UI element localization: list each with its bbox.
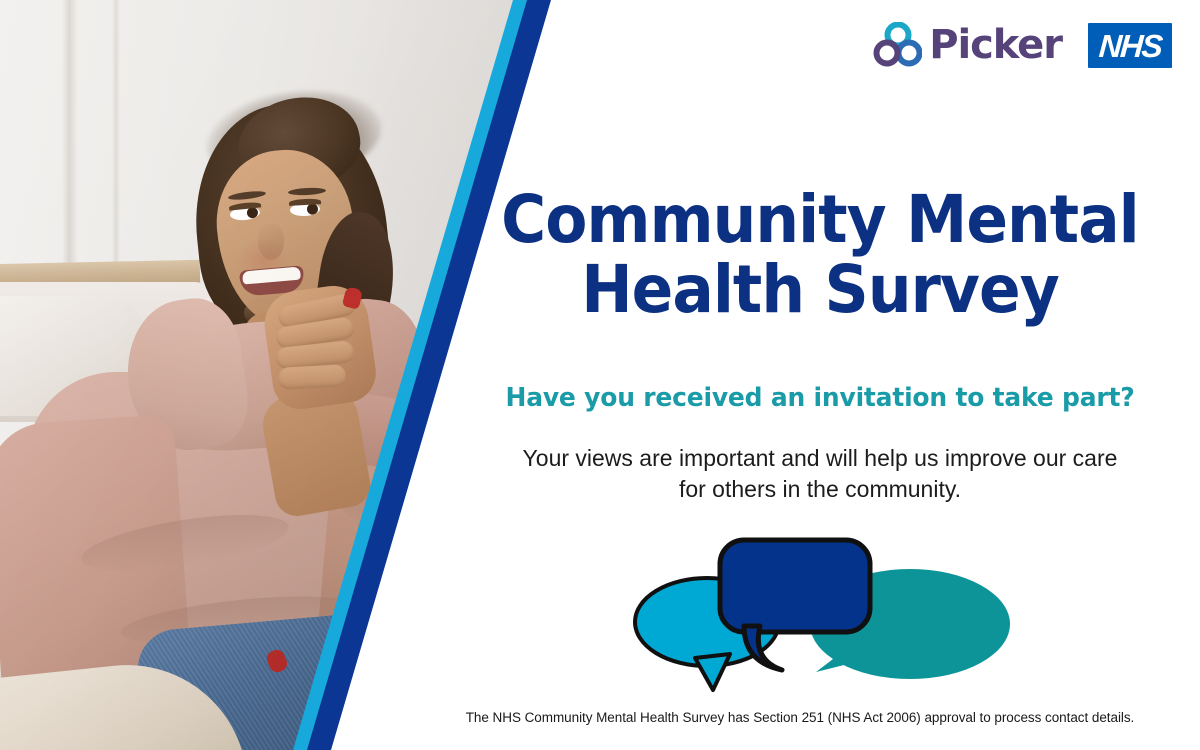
footer-disclaimer: The NHS Community Mental Health Survey h… — [405, 710, 1195, 725]
page-subtitle: Have you received an invitation to take … — [484, 383, 1156, 413]
hero-photo — [0, 0, 545, 750]
body-line-2: for others in the community. — [679, 476, 961, 502]
body-paragraph: Your views are important and will help u… — [480, 443, 1160, 505]
page-title: Community Mental Health Survey — [495, 185, 1146, 325]
page-title-line-2: Health Survey — [581, 251, 1059, 328]
speech-bubbles-illustration — [620, 522, 1020, 697]
photo-shading-overlay — [0, 0, 545, 750]
page-title-line-1: Community Mental — [501, 181, 1139, 258]
hero-photo-panel — [0, 0, 545, 750]
content-column: Community Mental Health Survey Have you … — [470, 0, 1200, 750]
body-line-1: Your views are important and will help u… — [523, 445, 1118, 471]
speech-bubbles-icon — [620, 522, 1020, 697]
poster-canvas: Picker NHS Community Mental Health Surve… — [0, 0, 1200, 750]
